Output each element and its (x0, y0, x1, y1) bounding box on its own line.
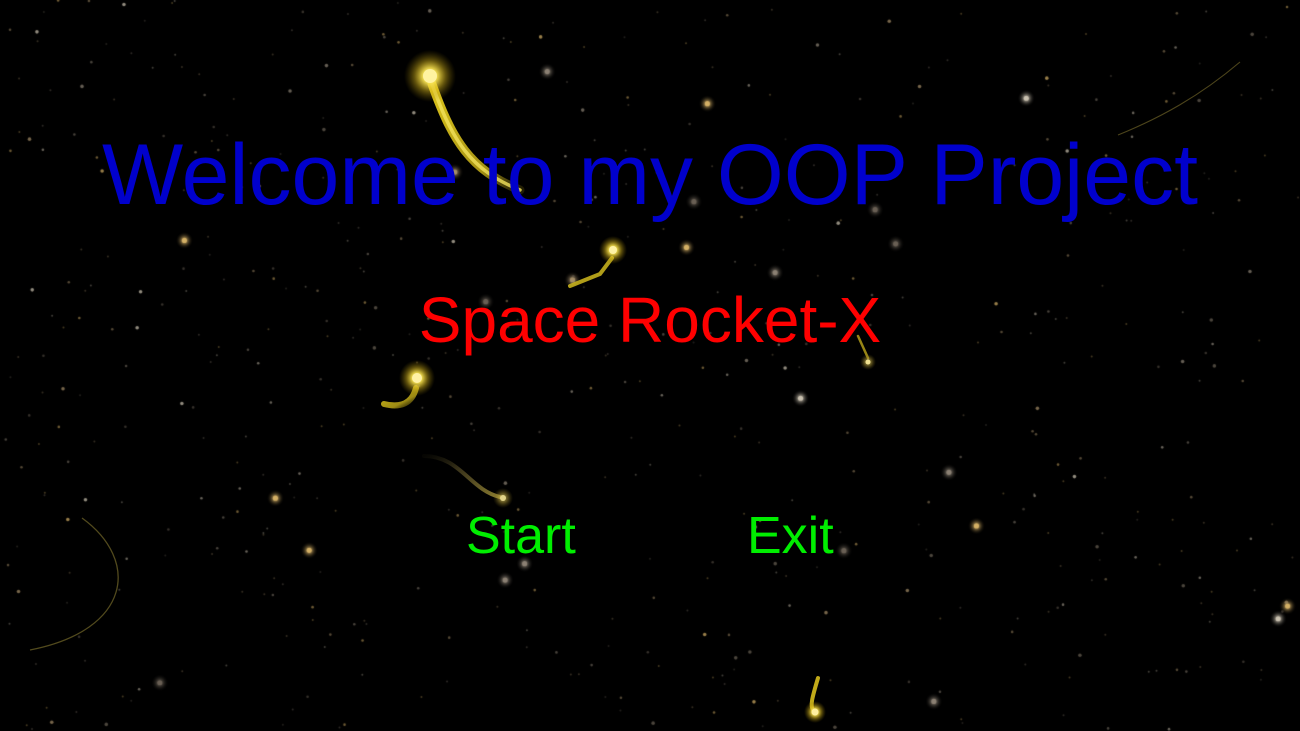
page-title: Welcome to my OOP Project (0, 132, 1300, 218)
start-button[interactable]: Start (466, 510, 576, 562)
game-subtitle: Space Rocket-X (0, 288, 1300, 352)
game-window: Welcome to my OOP Project Space Rocket-X… (0, 0, 1300, 731)
exit-button[interactable]: Exit (747, 510, 834, 562)
menu-ui-layer: Welcome to my OOP Project Space Rocket-X… (0, 0, 1300, 731)
